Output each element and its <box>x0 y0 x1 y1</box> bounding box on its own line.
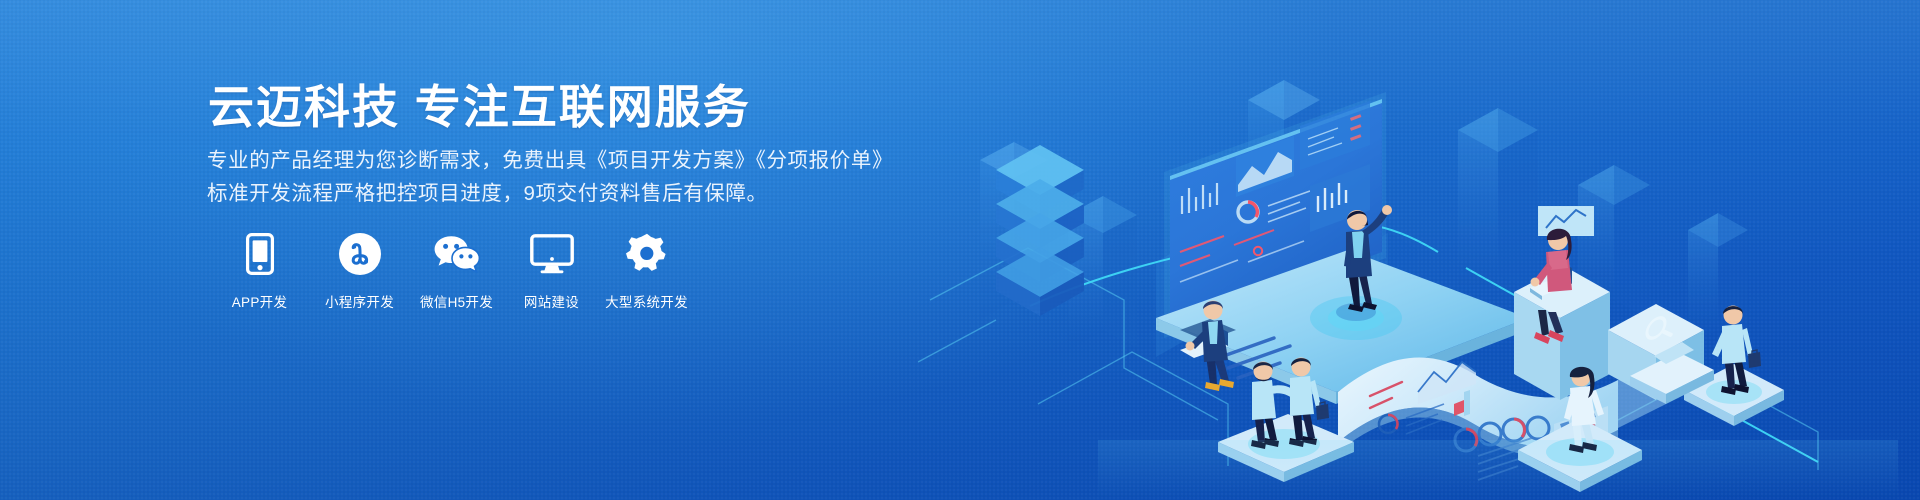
tablet-platform <box>1156 250 1528 404</box>
page-title: 云迈科技 专注互联网服务 <box>208 71 751 137</box>
city-buildings <box>980 80 1748 357</box>
banner-content: 云迈科技 专注互联网服务 专业的产品经理为您诊断需求，免费出具《项目开发方案》《… <box>203 0 963 500</box>
monitor-icon <box>530 232 574 276</box>
search-cube <box>1608 304 1704 400</box>
service-item-website[interactable]: 网站建设 <box>515 232 588 311</box>
dashboard-screen <box>1164 92 1386 338</box>
service-label: APP开发 <box>232 291 288 311</box>
circuit-lines-accent <box>1030 223 1818 462</box>
server-stack <box>996 145 1084 316</box>
service-item-app[interactable]: APP开发 <box>223 232 296 311</box>
service-label: 网站建设 <box>524 291 579 311</box>
isometric-illustration <box>918 0 1920 500</box>
wechat-icon <box>433 232 481 276</box>
circuit-lines <box>918 248 1818 470</box>
standing-person-pointing <box>1336 205 1392 321</box>
flowing-data-sheet <box>1338 358 1666 480</box>
service-item-large-system[interactable]: 大型系统开发 <box>610 232 683 311</box>
promo-banner: 云迈科技 专注互联网服务 专业的产品经理为您诊断需求，免费出具《项目开发方案》《… <box>0 0 1920 500</box>
woman-on-pillar-laptop <box>1514 206 1610 400</box>
subtitle-line-2: 标准开发流程严格把控项目进度，9项交付资料售后有保障。 <box>207 177 893 210</box>
seated-person-laptop <box>1180 301 1234 392</box>
subtitle-line-1: 专业的产品经理为您诊断需求，免费出具《项目开发方案》《分项报价单》 <box>207 144 893 177</box>
service-item-wechat-h5[interactable]: 微信H5开发 <box>420 232 493 311</box>
woman-on-platform <box>1518 367 1642 492</box>
gear-icon <box>626 232 668 276</box>
banner-subtitle: 专业的产品经理为您诊断需求，免费出具《项目开发方案》《分项报价单》 标准开发流程… <box>207 144 893 210</box>
service-label: 大型系统开发 <box>605 291 688 311</box>
person-with-briefcase <box>1630 306 1784 427</box>
service-list: APP开发 小程序开发 <box>203 232 683 311</box>
service-label: 微信H5开发 <box>420 291 493 311</box>
service-label: 小程序开发 <box>325 291 394 311</box>
mobile-phone-icon <box>246 232 274 276</box>
mini-program-icon <box>339 232 381 276</box>
service-item-miniprogram[interactable]: 小程序开发 <box>323 232 396 311</box>
two-people-talking-platform <box>1218 358 1354 483</box>
